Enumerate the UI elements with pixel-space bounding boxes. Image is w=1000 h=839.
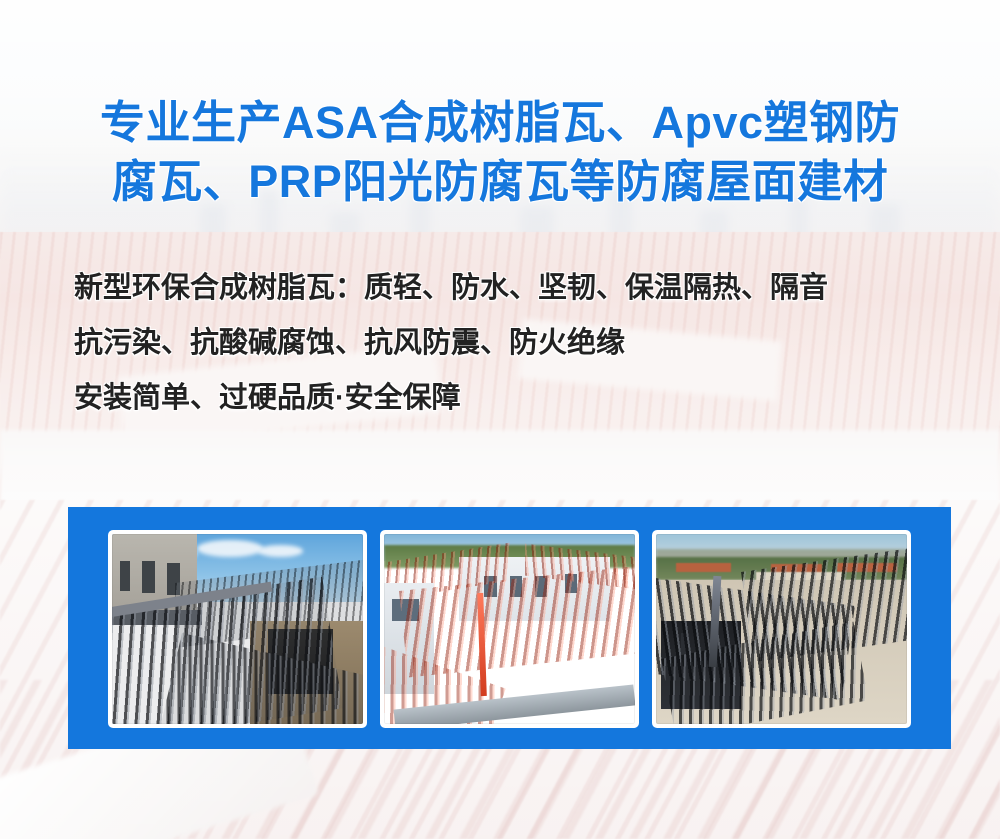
cloud-shape (197, 540, 262, 557)
feature-line-2: 抗污染、抗酸碱腐蚀、抗风防震、防火绝缘 (74, 329, 954, 358)
feature-line-1: 新型环保合成树脂瓦：质轻、防水、坚韧、保温隔热、隔音 (74, 274, 954, 303)
far-red-roof (676, 563, 731, 573)
gallery-photo-red-tiled-roof[interactable] (380, 530, 639, 728)
window-shape-2 (142, 561, 155, 593)
feature-list: 新型环保合成树脂瓦：质轻、防水、坚韧、保温隔热、隔音 抗污染、抗酸碱腐蚀、抗风防… (74, 274, 954, 413)
headline-line-2: 腐瓦、PRP阳光防腐瓦等防腐屋面建材 (0, 152, 1000, 211)
feature-line-3: 安装简单、过硬品质·安全保障 (74, 384, 954, 413)
cloud-shape-2 (258, 545, 303, 556)
product-promo-banner: 专业生产ASA合成树脂瓦、Apvc塑钢防 腐瓦、PRP阳光防腐瓦等防腐屋面建材 … (0, 0, 1000, 839)
headline: 专业生产ASA合成树脂瓦、Apvc塑钢防 腐瓦、PRP阳光防腐瓦等防腐屋面建材 (0, 93, 1000, 211)
photo-canvas (384, 534, 635, 724)
photo-gallery-band (68, 507, 951, 749)
gallery-photo-grey-tiled-roof[interactable] (108, 530, 367, 728)
gallery-photo-dark-carport-roof[interactable] (652, 530, 911, 728)
photo-canvas (656, 534, 907, 724)
photo-gallery (108, 530, 911, 728)
window-shape (120, 561, 130, 591)
headline-line-1: 专业生产ASA合成树脂瓦、Apvc塑钢防 (0, 93, 1000, 152)
photo-canvas (112, 534, 363, 724)
